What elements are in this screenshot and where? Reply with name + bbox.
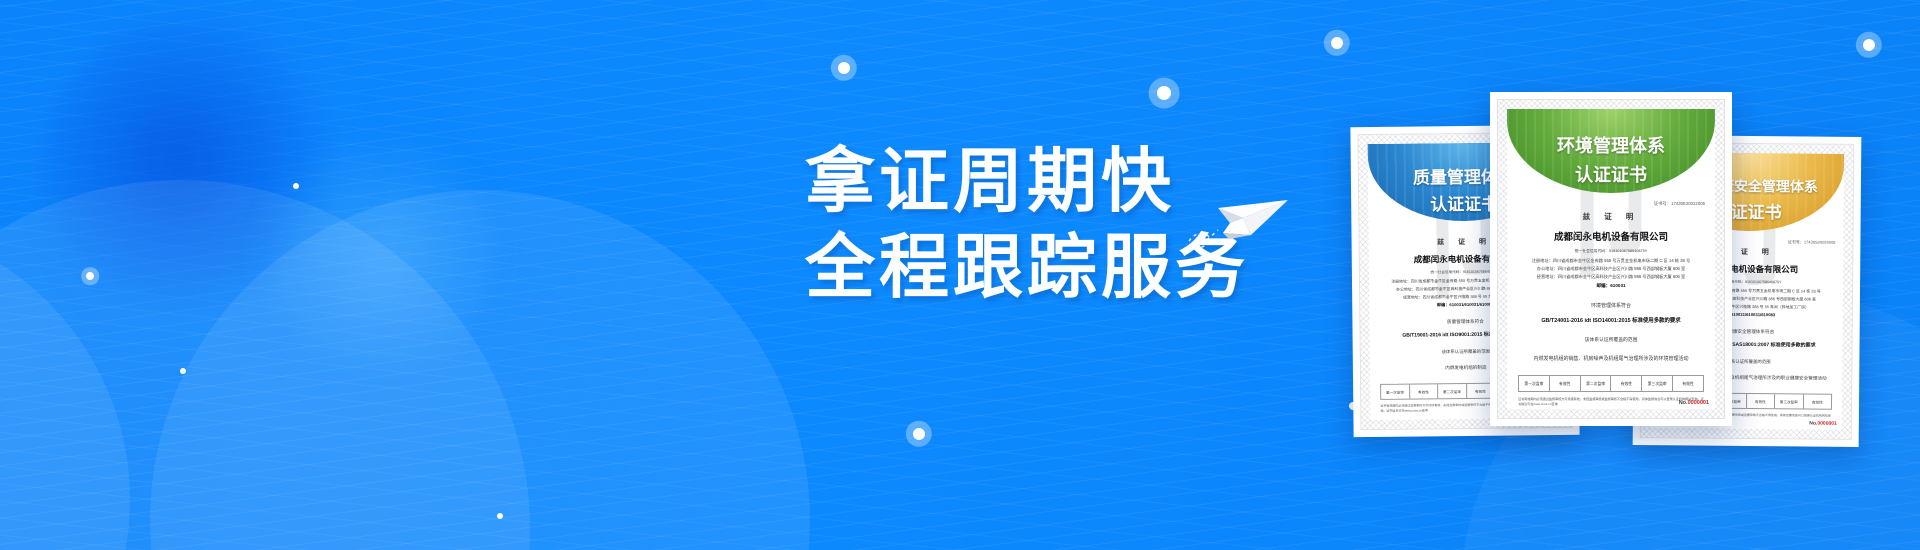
fine-print: 证书有效期内必须通过监督审核方可持续有效，未经监督审核或监督审核不合格不得使用，… (1518, 397, 1704, 408)
audit-box: 有效性 (1673, 376, 1703, 391)
certificate-number: 证书号：17430E20022005 (1654, 201, 1705, 207)
decorative-dot (1331, 37, 1343, 49)
audit-box: 有效性 (1550, 376, 1581, 391)
promo-banner: 拿证周期快 全程跟踪服务 卩 质量管理体系 认证证书 (0, 0, 1920, 550)
audit-box: 第二次监审 (1581, 376, 1612, 391)
decorative-dot (1157, 86, 1171, 100)
audit-box: 第一次监审 (1381, 385, 1410, 399)
audit-box: 有效性 (1410, 384, 1439, 398)
decorative-dot (913, 428, 925, 440)
scope-label: 该体系认证所覆盖的范围 (1507, 336, 1715, 343)
decorative-dot (180, 368, 186, 374)
audit-box: 有效性 (1803, 394, 1831, 408)
standard-reference: GB/T24001-2016 idt ISO14001:2015 标准使用多款的… (1507, 316, 1715, 324)
scope-text: 内燃发电机组的销售、机房噪声及机组尾气治理所涉及的环境管理活动 (1507, 355, 1715, 362)
audit-boxes: 第一次监审 有效性 第二次监审 有效性 第三次监审 有效性 (1518, 375, 1704, 392)
system-label: 环境管理体系符合 (1507, 302, 1715, 309)
decorative-dot (838, 62, 850, 74)
headline-line-1: 拿证周期快 (805, 138, 1249, 224)
audit-box: 第三次监审 (1775, 394, 1804, 408)
certificate-environment[interactable]: 卩 环境管理体系 认证证书 证书号：17430E20022005 兹 证 明 成… (1490, 92, 1732, 426)
decorative-dot (1863, 39, 1875, 51)
certificate-stack: 卩 质量管理体系 认证证书 证书号：17430Q20022005 兹 证 明 成… (1352, 92, 1920, 492)
certificate-face: 卩 环境管理体系 认证证书 证书号：17430E20022005 兹 证 明 成… (1507, 109, 1715, 409)
decorative-dot (497, 513, 503, 519)
certificate-number: 证书号：17430S20024005 (1788, 239, 1836, 245)
certificate-header-environment: 环境管理体系 认证证书 (1507, 109, 1715, 193)
audit-box: 第一次监审 (1519, 376, 1550, 391)
audit-box: 有效性 (1746, 394, 1775, 408)
headline-line-2: 全程跟踪服务 (805, 224, 1249, 310)
certificate-serial: No.0000001 (1679, 400, 1709, 406)
headline-block: 拿证周期快 全程跟踪服务 (805, 138, 1249, 310)
certificate-border: 卩 环境管理体系 认证证书 证书号：17430E20022005 兹 证 明 成… (1497, 99, 1725, 419)
paper-plane-icon (1185, 178, 1295, 253)
decorative-dot (86, 272, 94, 280)
audit-box: 第三次监审 (1642, 376, 1673, 391)
decorative-dot (293, 183, 299, 189)
audit-box: 第二次监审 (1438, 384, 1467, 398)
audit-box: 有效性 (1611, 376, 1642, 391)
certificate-serial: No.0000001 (1809, 421, 1837, 427)
